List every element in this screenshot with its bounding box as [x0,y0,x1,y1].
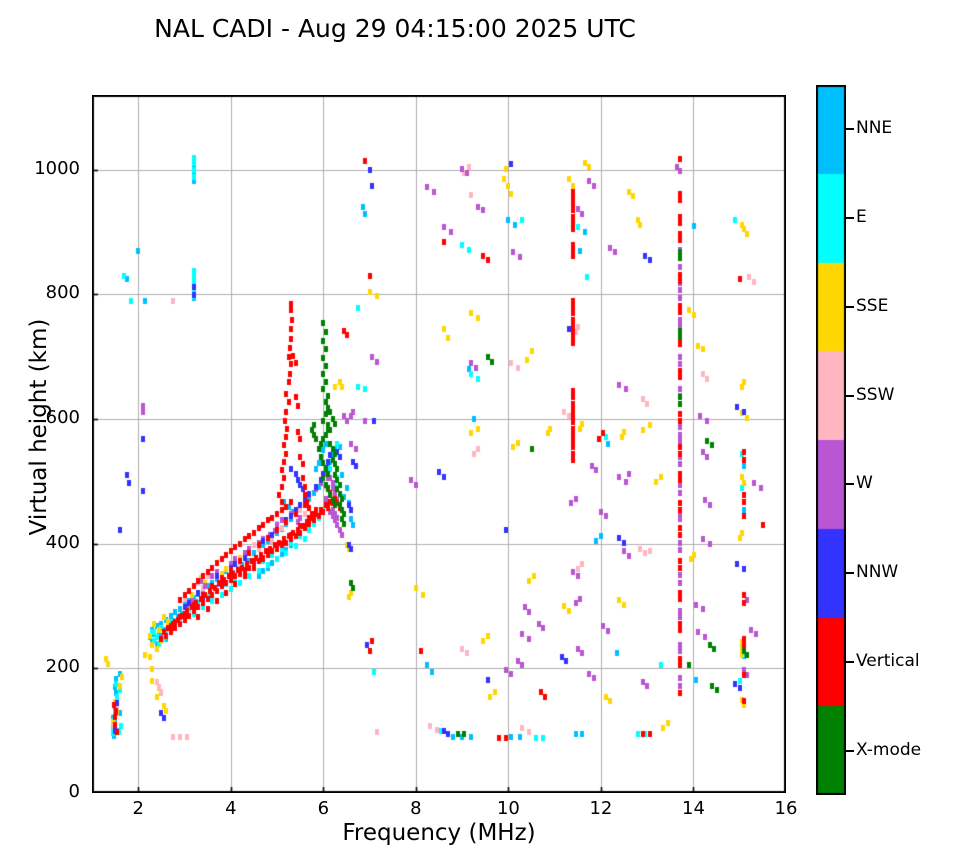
colorbar-tick-mark [846,483,854,485]
x-tick-label: 6 [293,798,353,819]
colorbar-category-ssw: SSW [856,385,894,405]
x-tick-label: 8 [386,798,446,819]
colorbar-category-e: E [856,207,867,227]
x-tick-label: 10 [478,798,538,819]
y-tick-label: 800 [10,282,80,303]
colorbar-tick-mark [846,128,854,130]
colorbar-category-nne: NNE [856,118,892,138]
x-tick-label: 12 [571,798,631,819]
colorbar-tick-mark [846,217,854,219]
colorbar-category-sse: SSE [856,296,888,316]
colorbar-category-vertical: Vertical [856,651,920,671]
x-axis-label: Frequency (MHz) [92,820,786,846]
x-tick-label: 4 [201,798,261,819]
colorbar-category-x-mode: X-mode [856,740,921,760]
ionogram-figure: NAL CADI - Aug 29 04:15:00 2025 UTC Virt… [0,0,958,857]
x-tick-label: 14 [663,798,723,819]
colorbar-tick-mark [846,661,854,663]
ionogram-plot-canvas[interactable] [92,95,786,793]
colorbar-category-nnw: NNW [856,562,898,582]
colorbar-tick-mark [846,395,854,397]
y-tick-label: 600 [10,407,80,428]
y-tick-label: 1000 [10,158,80,179]
y-tick-label: 400 [10,532,80,553]
colorbar-tick-mark [846,306,854,308]
x-tick-label: 16 [756,798,816,819]
colorbar-canvas[interactable] [816,85,846,795]
x-tick-label: 2 [108,798,168,819]
colorbar-tick-mark [846,750,854,752]
y-tick-label: 0 [10,781,80,802]
y-tick-label: 200 [10,656,80,677]
page-title: NAL CADI - Aug 29 04:15:00 2025 UTC [0,14,790,43]
colorbar-category-w: W [856,473,873,493]
colorbar-tick-mark [846,572,854,574]
